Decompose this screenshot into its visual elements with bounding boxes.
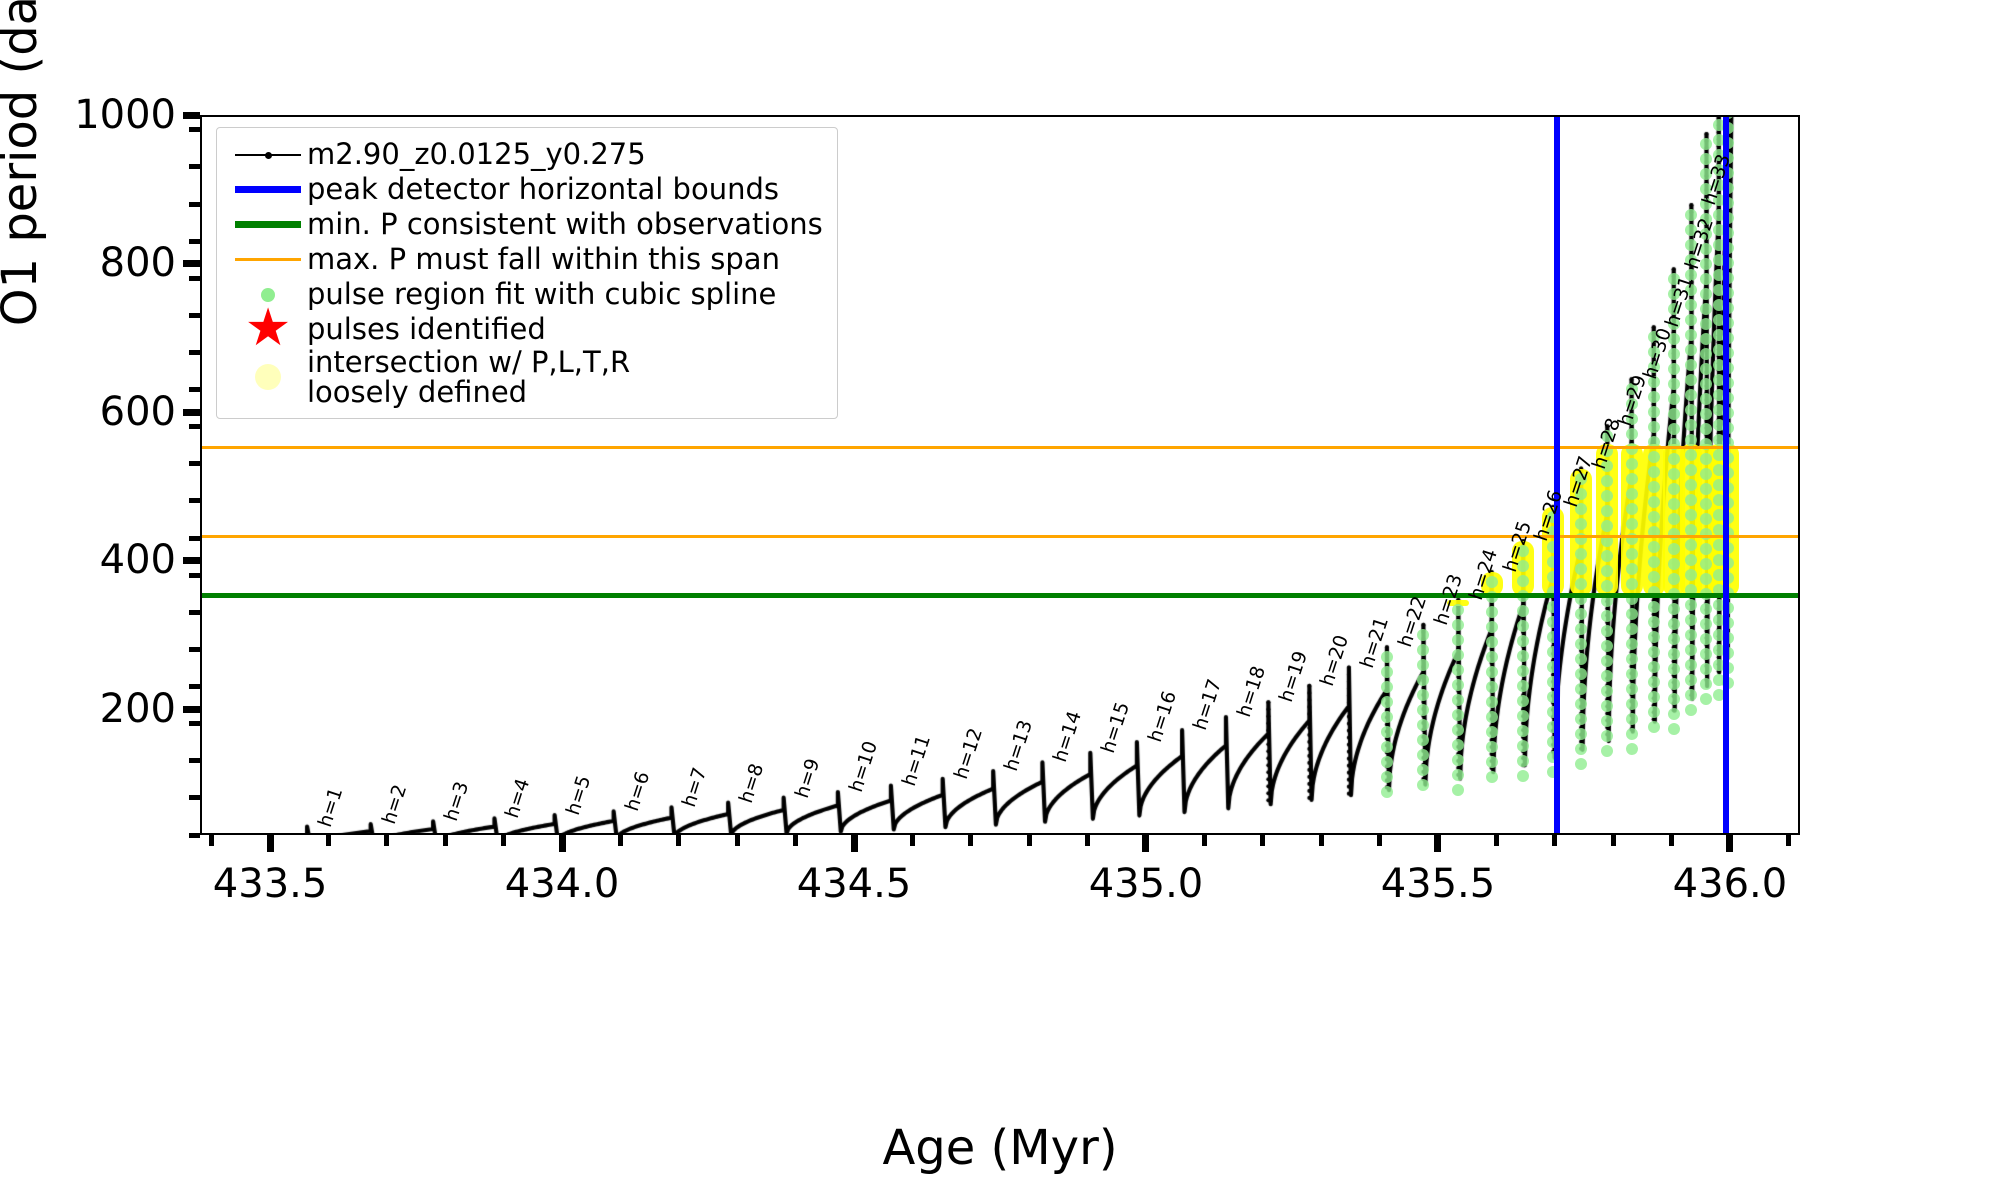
spline-fit-point [1575,758,1587,770]
x-tick-major [1434,835,1441,852]
spline-fit-point [1575,728,1587,740]
x-tick-minor [384,835,389,846]
x-tick-label: 435.0 [1089,861,1204,907]
green-line-icon [229,208,307,242]
spline-fit-point [1668,453,1680,465]
spline-fit-point [1575,548,1587,560]
legend-item[interactable]: m2.90_z0.0125_y0.275 [229,137,823,172]
x-tick-major [559,835,566,852]
y-tick-minor [189,721,200,726]
spline-fit-point [1486,741,1498,753]
spline-fit-point [1575,668,1587,680]
y-tick-minor [189,647,200,652]
spline-fit-point [1575,653,1587,665]
spline-fit-point [1648,451,1660,463]
x-tick-minor [443,835,448,846]
spline-fit-point [1648,571,1660,583]
y-tick-minor [189,276,200,281]
x-axis-label: Age (Myr) [200,1120,1800,1176]
legend-label: intersection w/ P,L,T,R loosely defined [307,347,630,408]
x-tick-label: 434.5 [797,861,912,907]
spline-fit-point [1626,683,1638,695]
y-tick-major [183,112,200,119]
spline-fit-point [1486,681,1498,693]
x-tick-minor [1611,835,1616,846]
spline-fit-point [1575,743,1587,755]
spline-fit-point [1575,563,1587,575]
spline-fit-point [1648,646,1660,658]
spline-fit-point [1626,548,1638,560]
x-tick-major [851,835,858,852]
y-tick-minor [189,536,200,541]
y-tick-minor [189,795,200,800]
legend-item[interactable]: ★pulses identified [229,312,823,347]
legend-item[interactable]: intersection w/ P,L,T,R loosely defined [229,347,823,408]
orange-line-icon [229,243,307,277]
spline-fit-point [1648,421,1660,433]
spline-fit-point [1626,728,1638,740]
spline-fit-point [1575,623,1587,635]
spline-fit-point [1648,676,1660,688]
y-tick-label: 1000 [74,92,176,138]
x-tick-minor [676,835,681,846]
spline-fit-point [1668,723,1680,735]
spline-fit-point [1668,483,1680,495]
y-tick-major [183,409,200,416]
spline-fit-point [1668,423,1680,435]
legend-item[interactable]: peak detector horizontal bounds [229,172,823,207]
black-line-marker-icon [229,138,307,172]
spline-fit-point [1668,393,1680,405]
yellow-dot-icon [229,360,307,394]
spline-fit-point [1648,391,1660,403]
spline-fit-point [1648,601,1660,613]
y-tick-label: 600 [100,389,176,435]
spline-fit-point [1668,513,1680,525]
y-tick-minor [189,573,200,578]
x-tick-minor [1202,835,1207,846]
spline-fit-point [1668,558,1680,570]
x-tick-major [1726,835,1733,852]
spline-fit-point [1575,518,1587,530]
spline-fit-point [1648,406,1660,418]
y-tick-minor [189,758,200,763]
y-tick-minor [189,202,200,207]
y-tick-major [183,260,200,267]
spline-fit-point [1486,666,1498,678]
spline-fit-point [1648,661,1660,673]
y-tick-minor [189,127,200,132]
spline-fit-point [1626,698,1638,710]
spline-fit-point [1668,693,1680,705]
legend[interactable]: m2.90_z0.0125_y0.275peak detector horizo… [216,127,838,419]
x-tick-minor [735,835,740,846]
spline-fit-point [1668,543,1680,555]
y-axis-label: O1 period (days) [0,0,48,475]
x-tick-minor [501,835,506,846]
spline-fit-point [1486,636,1498,648]
spline-fit-point [1626,608,1638,620]
x-tick-major [1142,835,1149,852]
spline-fit-point [1626,653,1638,665]
spline-fit-point [1668,378,1680,390]
peak-detector-bound-line [1554,117,1560,833]
y-tick-minor [189,350,200,355]
red-star-icon: ★ [229,313,307,347]
spline-fit-point [1668,648,1680,660]
spline-fit-point [1626,578,1638,590]
x-tick-minor [1494,835,1499,846]
spline-fit-point [1668,573,1680,585]
blue-line-icon [229,173,307,207]
x-tick-minor [618,835,623,846]
x-tick-minor [209,835,214,846]
x-tick-minor [1085,835,1090,846]
spline-fit-point [1648,541,1660,553]
x-tick-minor [1260,835,1265,846]
legend-item[interactable]: pulse region fit with cubic spline [229,277,823,312]
spline-fit-point [1668,618,1680,630]
spline-fit-point [1626,503,1638,515]
x-tick-major [267,835,274,852]
spline-fit-point [1626,428,1638,440]
x-tick-label: 434.0 [505,861,620,907]
x-tick-minor [1669,835,1674,846]
spline-fit-point [1648,706,1660,718]
legend-label: max. P must fall within this span [307,244,780,274]
spline-fit-point [1668,498,1680,510]
x-tick-label: 436.0 [1673,861,1788,907]
spline-fit-point [1668,408,1680,420]
y-tick-label: 400 [100,537,176,583]
spline-fit-point [1668,708,1680,720]
x-tick-minor [968,835,973,846]
spline-fit-point [1626,518,1638,530]
spline-fit-point [1486,771,1498,783]
legend-item[interactable]: max. P must fall within this span [229,242,823,277]
spline-fit-point [1626,713,1638,725]
legend-item[interactable]: min. P consistent with observations [229,207,823,242]
y-tick-major [183,557,200,564]
y-tick-minor [189,164,200,169]
spline-fit-point [1648,631,1660,643]
spline-fit-point [1575,578,1587,590]
spline-fit-point [1626,638,1638,650]
legend-label: min. P consistent with observations [307,209,823,239]
spline-fit-point [1668,468,1680,480]
spline-fit-point [1486,756,1498,768]
peak-detector-bound-line [1723,117,1729,833]
spline-fit-point [1648,496,1660,508]
spline-fit-point [1575,683,1587,695]
y-tick-minor [189,610,200,615]
y-tick-minor [189,833,200,838]
spline-fit-point [1668,678,1680,690]
spline-fit-point [1648,481,1660,493]
spline-fit-point [1626,473,1638,485]
spline-fit-point [1668,663,1680,675]
spline-fit-point [1668,633,1680,645]
x-tick-minor [793,835,798,846]
spline-fit-point [1648,511,1660,523]
spline-fit-point [1626,488,1638,500]
spline-fit-point [1575,698,1587,710]
spline-fit-point [1575,608,1587,620]
x-tick-minor [1377,835,1382,846]
spline-fit-point [1486,651,1498,663]
y-tick-label: 800 [100,240,176,286]
spline-fit-point [1626,668,1638,680]
x-tick-minor [1027,835,1032,846]
spline-fit-point [1648,691,1660,703]
y-tick-minor [189,239,200,244]
spline-fit-point [1626,743,1638,755]
spline-fit-point [1648,556,1660,568]
spline-fit-point [1626,623,1638,635]
x-tick-minor [326,835,331,846]
y-tick-minor [189,684,200,689]
y-tick-label: 200 [100,686,176,732]
legend-label: m2.90_z0.0125_y0.275 [307,139,646,169]
x-tick-minor [1786,835,1791,846]
x-tick-label: 433.5 [213,861,328,907]
spline-fit-point [1575,713,1587,725]
spline-fit-point [1486,696,1498,708]
y-tick-minor [189,387,200,392]
legend-label: peak detector horizontal bounds [307,174,779,204]
legend-label: pulse region fit with cubic spline [307,279,776,309]
x-tick-minor [1319,835,1324,846]
y-tick-minor [189,498,200,503]
spline-fit-point [1626,458,1638,470]
plot-area: h=1h=2h=3h=4h=5h=6h=7h=8h=9h=10h=11h=12h… [200,115,1800,835]
spline-fit-point [1668,363,1680,375]
spline-fit-point [1648,466,1660,478]
x-tick-minor [910,835,915,846]
spline-fit-point [1486,726,1498,738]
spline-fit-point [1626,563,1638,575]
spline-fit-point [1486,621,1498,633]
x-tick-label: 435.5 [1381,861,1496,907]
spline-fit-point [1648,616,1660,628]
x-tick-minor [1552,835,1557,846]
y-tick-minor [189,424,200,429]
spline-fit-point [1575,638,1587,650]
spline-fit-point [1668,603,1680,615]
chart-canvas: O1 period (days) Age (Myr) 2004006008001… [0,0,2000,1200]
spline-fit-point [1648,721,1660,733]
y-tick-major [183,706,200,713]
y-tick-minor [189,313,200,318]
legend-label: pulses identified [307,314,546,344]
spline-fit-point [1486,606,1498,618]
spline-fit-point [1486,711,1498,723]
y-tick-minor [189,461,200,466]
